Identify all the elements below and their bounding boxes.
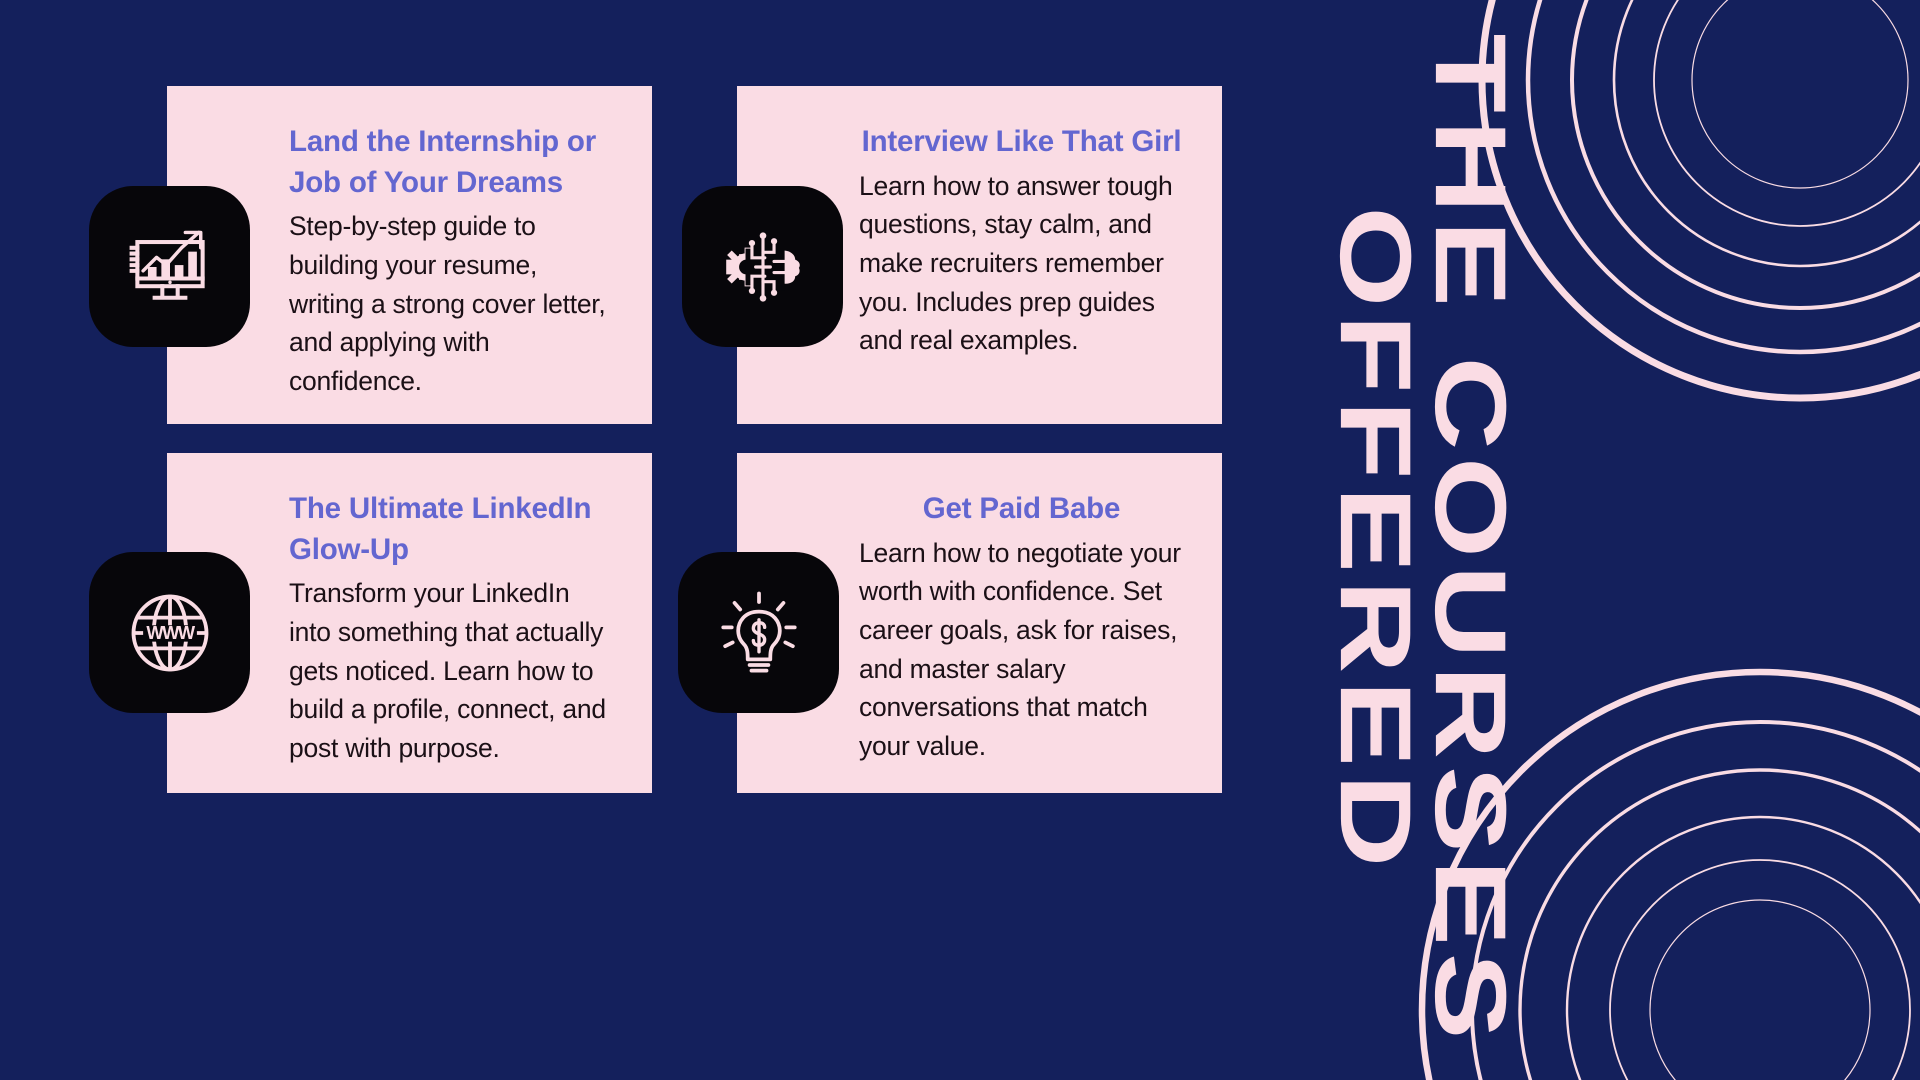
course-icon-badge-3: WWW — [89, 552, 250, 713]
course-card-title: Get Paid Babe — [859, 489, 1184, 530]
gear-ai-brain-circuit-icon — [717, 221, 809, 313]
course-card-title: The Ultimate LinkedIn Glow-Up — [289, 489, 614, 570]
globe-www-icon: WWW — [122, 585, 218, 681]
course-icon-badge-2 — [682, 186, 843, 347]
lightbulb-dollar-icon — [712, 586, 806, 680]
course-card-body: Step-by-step guide to building your resu… — [289, 207, 614, 400]
page-title-line-1: THE COURSES — [1424, 34, 1517, 1047]
course-card-title: Land the Internship or Job of Your Dream… — [289, 122, 614, 203]
course-card-body: Transform your LinkedIn into something t… — [289, 574, 614, 767]
course-card-title: Interview Like That Girl — [859, 122, 1184, 163]
course-icon-badge-4 — [678, 552, 839, 713]
course-card-body: Learn how to answer tough questions, sta… — [859, 167, 1184, 360]
course-icon-badge-1 — [89, 186, 250, 347]
course-card-body: Learn how to negotiate your worth with c… — [859, 534, 1184, 766]
monitor-growth-chart-icon — [122, 219, 218, 315]
svg-text:WWW: WWW — [146, 622, 196, 643]
slide-canvas: Land the Internship or Job of Your Dream… — [0, 0, 1920, 1080]
page-title-vertical: THE COURSES OFFERED — [1258, 0, 1588, 1080]
page-title-line-2: OFFERED — [1329, 206, 1422, 874]
